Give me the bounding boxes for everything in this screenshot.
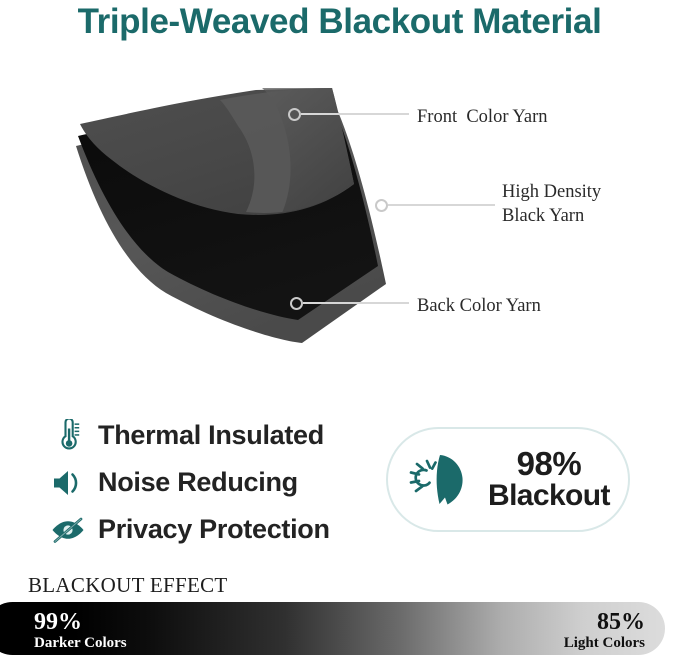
callout-label-line-2: Black Yarn [502, 206, 584, 226]
thermometer-icon [46, 416, 90, 456]
callout-front-color-yarn-label: Front Color Yarn [417, 106, 548, 130]
blackout-percentage-badge: 98% Blackout [386, 427, 630, 532]
feature-noise-reducing: Noise Reducing [46, 459, 366, 506]
callout-dot-icon [288, 108, 301, 121]
speaker-sound-icon [46, 463, 90, 503]
fabric-layer-stack-illustration [70, 88, 400, 353]
bar-light-colors-group: 85% Light Colors [564, 610, 645, 651]
callout-dot-icon [375, 199, 388, 212]
badge-percent: 98% [488, 447, 610, 481]
sun-blocked-by-shade-icon [406, 445, 476, 515]
callout-back-color-yarn-label: Back Color Yarn [417, 295, 541, 319]
callout-dot-icon [290, 297, 303, 310]
badge-text-group: 98% Blackout [488, 447, 610, 512]
feature-label: Privacy Protection [98, 514, 330, 545]
callout-leader-line [388, 204, 495, 206]
darker-colors-percent: 99% [34, 610, 127, 634]
product-infographic: Triple-Weaved Blackout Material [0, 0, 679, 655]
eye-slash-icon [46, 510, 90, 550]
darker-colors-label: Darker Colors [34, 636, 127, 651]
feature-list: Thermal Insulated Noise Reducing Pri [46, 412, 366, 553]
feature-label: Noise Reducing [98, 467, 298, 498]
callout-leader-line [303, 302, 409, 304]
callout-label-line-1: High Density [502, 182, 601, 202]
badge-word: Blackout [488, 481, 610, 512]
callout-leader-line [301, 113, 409, 115]
light-colors-label: Light Colors [564, 636, 645, 651]
light-colors-percent: 85% [564, 610, 645, 634]
feature-thermal-insulated: Thermal Insulated [46, 412, 366, 459]
feature-label: Thermal Insulated [98, 420, 324, 451]
feature-privacy-protection: Privacy Protection [46, 506, 366, 553]
blackout-effect-gradient-bar: 99% Darker Colors 85% Light Colors [0, 602, 665, 655]
bar-darker-colors-group: 99% Darker Colors [34, 610, 127, 651]
page-title: Triple-Weaved Blackout Material [0, 2, 679, 42]
callout-high-density-black-yarn-label: High DensityBlack Yarn [502, 181, 601, 228]
blackout-effect-heading: BLACKOUT EFFECT [28, 573, 228, 598]
